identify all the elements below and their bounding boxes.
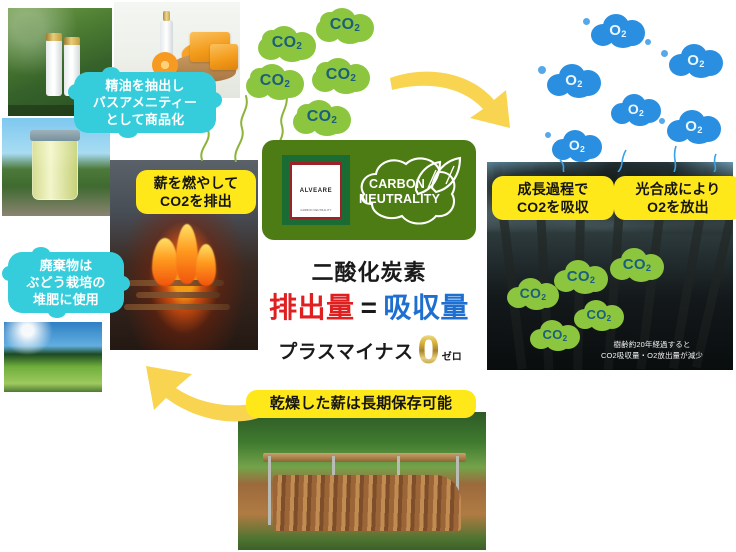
co2-label: CO2 bbox=[623, 257, 652, 272]
co2-cloud: CO2 bbox=[244, 62, 306, 100]
o2-label: O2 bbox=[685, 119, 702, 134]
zero-ruby-text: ゼロ bbox=[442, 348, 462, 363]
dried-firewood-label: 乾燥した薪は長期保存可能 bbox=[246, 390, 476, 418]
co2-cloud: CO2 bbox=[291, 98, 353, 136]
co2-label: CO2 bbox=[307, 109, 337, 125]
forest-caption: 樹齢約20年経過すると CO2吸収量・O2放出量が減少 bbox=[577, 340, 727, 362]
carbon-neutrality-panel: ALVEARE CARBON NEUTRALITY CARBON NEUTRAL… bbox=[262, 140, 476, 240]
co2-label: CO2 bbox=[260, 73, 290, 89]
equals-sign: = bbox=[361, 292, 378, 323]
co2-label: CO2 bbox=[520, 286, 547, 300]
photosynthesis-line-1: 光合成により bbox=[623, 180, 733, 198]
absorption-term: 吸収量 bbox=[383, 292, 469, 323]
o2-cloud: O2 bbox=[668, 42, 724, 78]
zero-digit: 0 bbox=[417, 333, 439, 367]
waste-compost-line-1: 廃棄物は bbox=[17, 257, 115, 274]
co2-label: CO2 bbox=[272, 35, 302, 51]
growth-absorb-line-2: CO2を吸収 bbox=[501, 198, 605, 216]
arrow-firewood-to-fire bbox=[124, 344, 270, 430]
o2-cloud: O2 bbox=[590, 12, 646, 48]
growth-absorb-label: 成長過程で CO2を吸収 bbox=[492, 176, 614, 220]
essential-oil-line-1: 精油を抽出し bbox=[83, 77, 207, 94]
burn-firewood-line-2: CO2を排出 bbox=[145, 192, 247, 210]
o2-label: O2 bbox=[628, 102, 644, 116]
alveare-logo-card: ALVEARE CARBON NEUTRALITY bbox=[290, 162, 342, 219]
co2-label: CO2 bbox=[567, 269, 596, 284]
essential-oil-line-2: バスアメニティー bbox=[83, 94, 207, 111]
firewood-stack-photo bbox=[238, 412, 486, 550]
essential-oil-callout: 精油を抽出し バスアメニティー として商品化 bbox=[74, 72, 216, 133]
emission-term: 排出量 bbox=[269, 292, 355, 323]
co2-cloud: CO2 bbox=[314, 6, 376, 44]
arrow-co2-to-forest bbox=[386, 56, 526, 132]
waste-compost-line-2: ぶどう栽培の bbox=[17, 274, 115, 291]
burn-firewood-line-1: 薪を燃やして bbox=[145, 174, 247, 192]
o2-cloud: O2 bbox=[546, 62, 602, 98]
co2-cloud: CO2 bbox=[310, 56, 372, 94]
co2-label: CO2 bbox=[587, 308, 612, 321]
cn-line-1: CARBON bbox=[359, 177, 435, 192]
growth-absorb-line-1: 成長過程で bbox=[501, 180, 605, 198]
o2-label: O2 bbox=[565, 73, 582, 88]
plus-minus-zero-row: プラスマイナス 0 ゼロ bbox=[252, 333, 488, 367]
co2-cloud-forest: CO2 bbox=[552, 258, 610, 294]
co2-label: CO2 bbox=[330, 17, 360, 33]
co2-cloud-forest: CO2 bbox=[528, 318, 582, 351]
alveare-brand-text: ALVEARE bbox=[300, 188, 332, 194]
waste-compost-line-3: 堆肥に使用 bbox=[17, 291, 115, 308]
o2-label: O2 bbox=[569, 138, 585, 152]
dried-firewood-line-1: 乾燥した薪は長期保存可能 bbox=[255, 394, 467, 414]
co2-cloud-forest: CO2 bbox=[608, 246, 666, 282]
alveare-card-frame: ALVEARE CARBON NEUTRALITY bbox=[282, 155, 350, 225]
burn-firewood-label: 薪を燃やして CO2を排出 bbox=[136, 170, 256, 214]
infographic-canvas: 樹齢約20年経過すると CO2吸収量・O2放出量が減少 CO2 bbox=[0, 0, 736, 552]
forest-caption-line2: CO2吸収量・O2放出量が減少 bbox=[577, 351, 727, 362]
waste-compost-callout: 廃棄物は ぶどう栽培の 堆肥に使用 bbox=[8, 252, 124, 313]
co2-cloud: CO2 bbox=[256, 24, 318, 62]
co2-label: CO2 bbox=[543, 328, 568, 341]
photosynthesis-line-2: O2を放出 bbox=[623, 198, 733, 216]
essential-oil-line-3: として商品化 bbox=[83, 111, 207, 128]
o2-label: O2 bbox=[609, 23, 626, 38]
photosynthesis-release-label: 光合成により O2を放出 bbox=[614, 176, 736, 220]
carbon-neutrality-text: CARBON NEUTRALITY bbox=[359, 177, 435, 207]
plus-minus-text: プラスマイナス bbox=[278, 337, 413, 364]
o2-label: O2 bbox=[687, 53, 704, 68]
carbon-neutrality-lockup: CARBON NEUTRALITY bbox=[354, 150, 472, 232]
co2-label: CO2 bbox=[326, 67, 356, 83]
vineyard-photo bbox=[4, 322, 102, 392]
forest-caption-line1: 樹齢約20年経過すると bbox=[577, 340, 727, 351]
equation-row: 排出量=吸収量 bbox=[256, 286, 482, 326]
equation-heading: 二酸化炭素 bbox=[262, 255, 476, 287]
cn-line-2: NEUTRALITY bbox=[359, 192, 435, 207]
alveare-card-subtext: CARBON NEUTRALITY bbox=[292, 209, 340, 212]
